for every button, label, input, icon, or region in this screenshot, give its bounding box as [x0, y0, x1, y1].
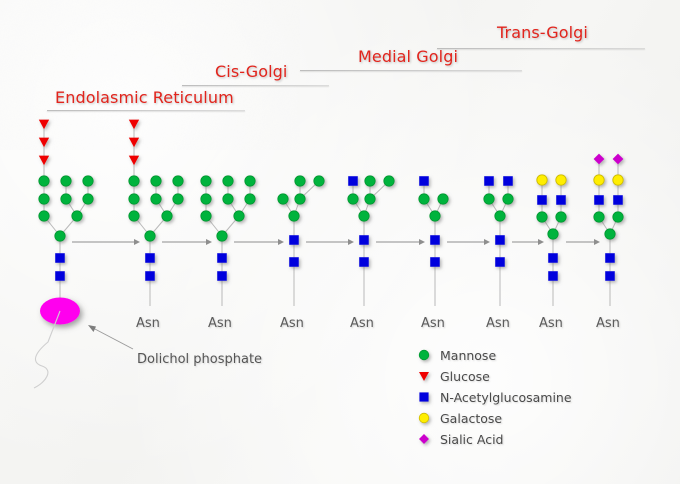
annotation-pointers-layer — [0, 0, 680, 484]
asn-label: Asn — [208, 316, 232, 331]
pointer-shaft — [93, 328, 133, 349]
dolichol-phosphate-annotation-pointer — [88, 325, 133, 349]
asn-label: Asn — [596, 316, 620, 331]
asn-label: Asn — [350, 316, 374, 331]
stage-label-endoplasmic-reticulum: Endolasmic Reticulum — [55, 88, 234, 107]
asn-label: Asn — [539, 316, 563, 331]
legend-mannose-label: Mannose — [440, 348, 496, 363]
stage-label-cis-golgi: Cis-Golgi — [215, 62, 287, 81]
asn-label: Asn — [421, 316, 445, 331]
legend-sialic-acid-label: Sialic Acid — [440, 432, 503, 447]
legend-galactose-label: Galactose — [440, 411, 502, 426]
asn-label: Asn — [136, 316, 160, 331]
stage-label-medial-golgi: Medial Golgi — [358, 47, 458, 66]
dolichol-phosphate-annotation: Dolichol phosphate — [137, 352, 262, 367]
glycosylation-pathway-figure: Endolasmic ReticulumCis-GolgiMedial Golg… — [0, 0, 680, 484]
stage-label-trans-golgi: Trans-Golgi — [497, 23, 588, 42]
asn-label: Asn — [486, 316, 510, 331]
pointer-head — [88, 325, 96, 332]
stage-rule-cis-golgi — [182, 85, 329, 86]
legend-glcnac-label: N-Acetylglucosamine — [440, 390, 572, 405]
asn-label: Asn — [280, 316, 304, 331]
legend-glucose-label: Glucose — [440, 369, 490, 384]
stage-rule-trans-golgi — [437, 48, 645, 49]
stage-rule-medial-golgi — [300, 70, 522, 71]
stage-rule-endoplasmic-reticulum — [47, 110, 245, 111]
